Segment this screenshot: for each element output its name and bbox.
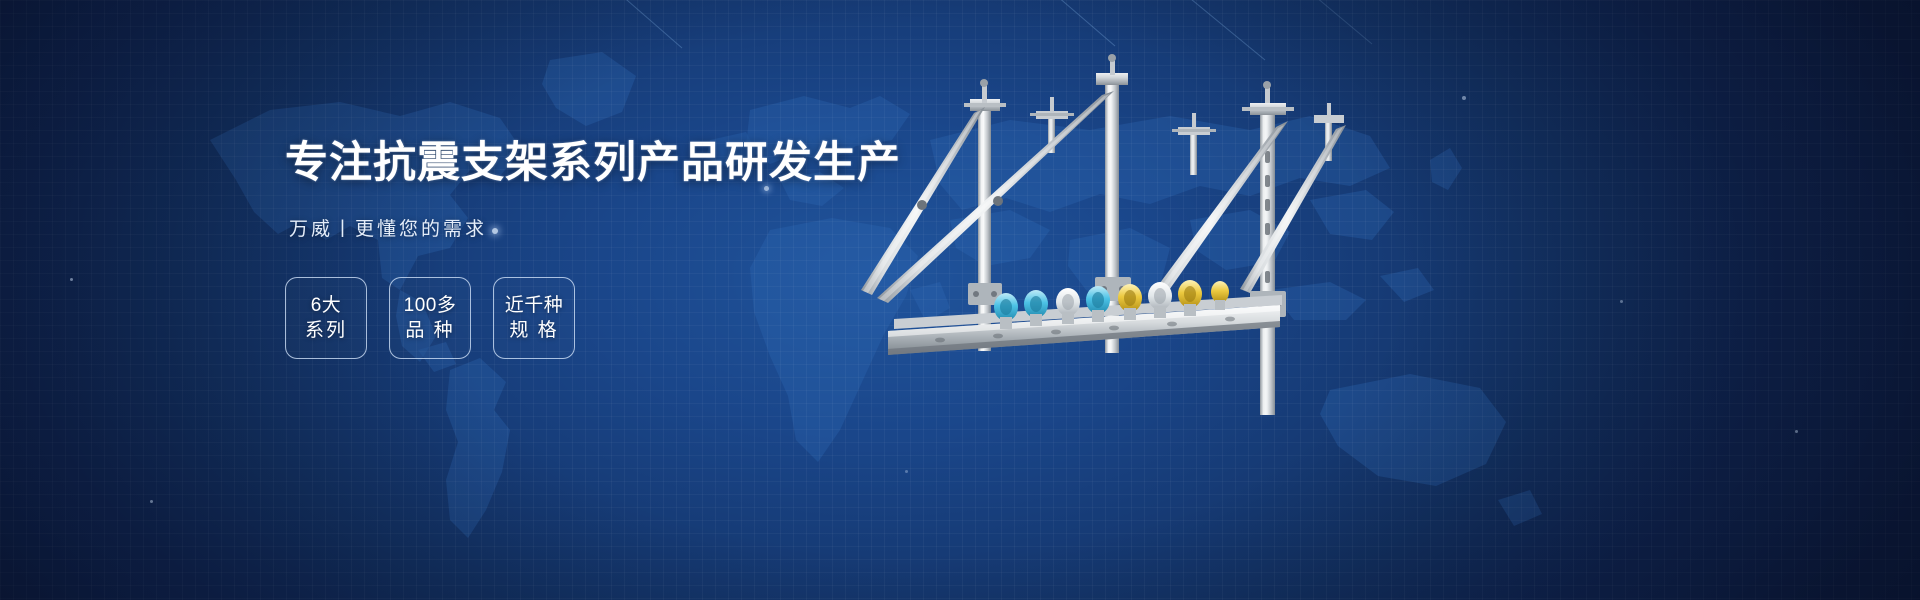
sparkle-dot (905, 470, 908, 473)
sparkle-dot (150, 500, 153, 503)
badge-line-2: 规 格 (509, 318, 558, 344)
badge-line-2: 系列 (305, 318, 347, 344)
page-title: 专注抗震支架系列产品研发生产 (285, 140, 845, 186)
hero-banner: 专注抗震支架系列产品研发生产 万威丨更懂您的需求 6大 系列 100多 品 种 … (0, 0, 1920, 600)
badge-line-2: 品 种 (405, 318, 454, 344)
badge-line-1: 近千种 (505, 293, 564, 319)
sparkle-dot (70, 278, 73, 281)
feature-badge-varieties: 100多 品 种 (389, 277, 471, 359)
sparkle-dot (1620, 300, 1623, 303)
sparkle-dot (1795, 430, 1798, 433)
feature-badge-specifications: 近千种 规 格 (493, 277, 575, 359)
banner-subtitle: 万威丨更懂您的需求 (289, 214, 845, 241)
sparkle-dot (1462, 96, 1466, 100)
product-image-seismic-bracing-assembly (830, 55, 1350, 415)
feature-badge-group: 6大 系列 100多 品 种 近千种 规 格 (285, 277, 845, 359)
feature-badge-series: 6大 系列 (285, 277, 367, 359)
banner-copy: 专注抗震支架系列产品研发生产 万威丨更懂您的需求 6大 系列 100多 品 种 … (285, 140, 845, 359)
badge-line-1: 100多 (404, 293, 457, 319)
badge-line-1: 6大 (311, 293, 342, 319)
